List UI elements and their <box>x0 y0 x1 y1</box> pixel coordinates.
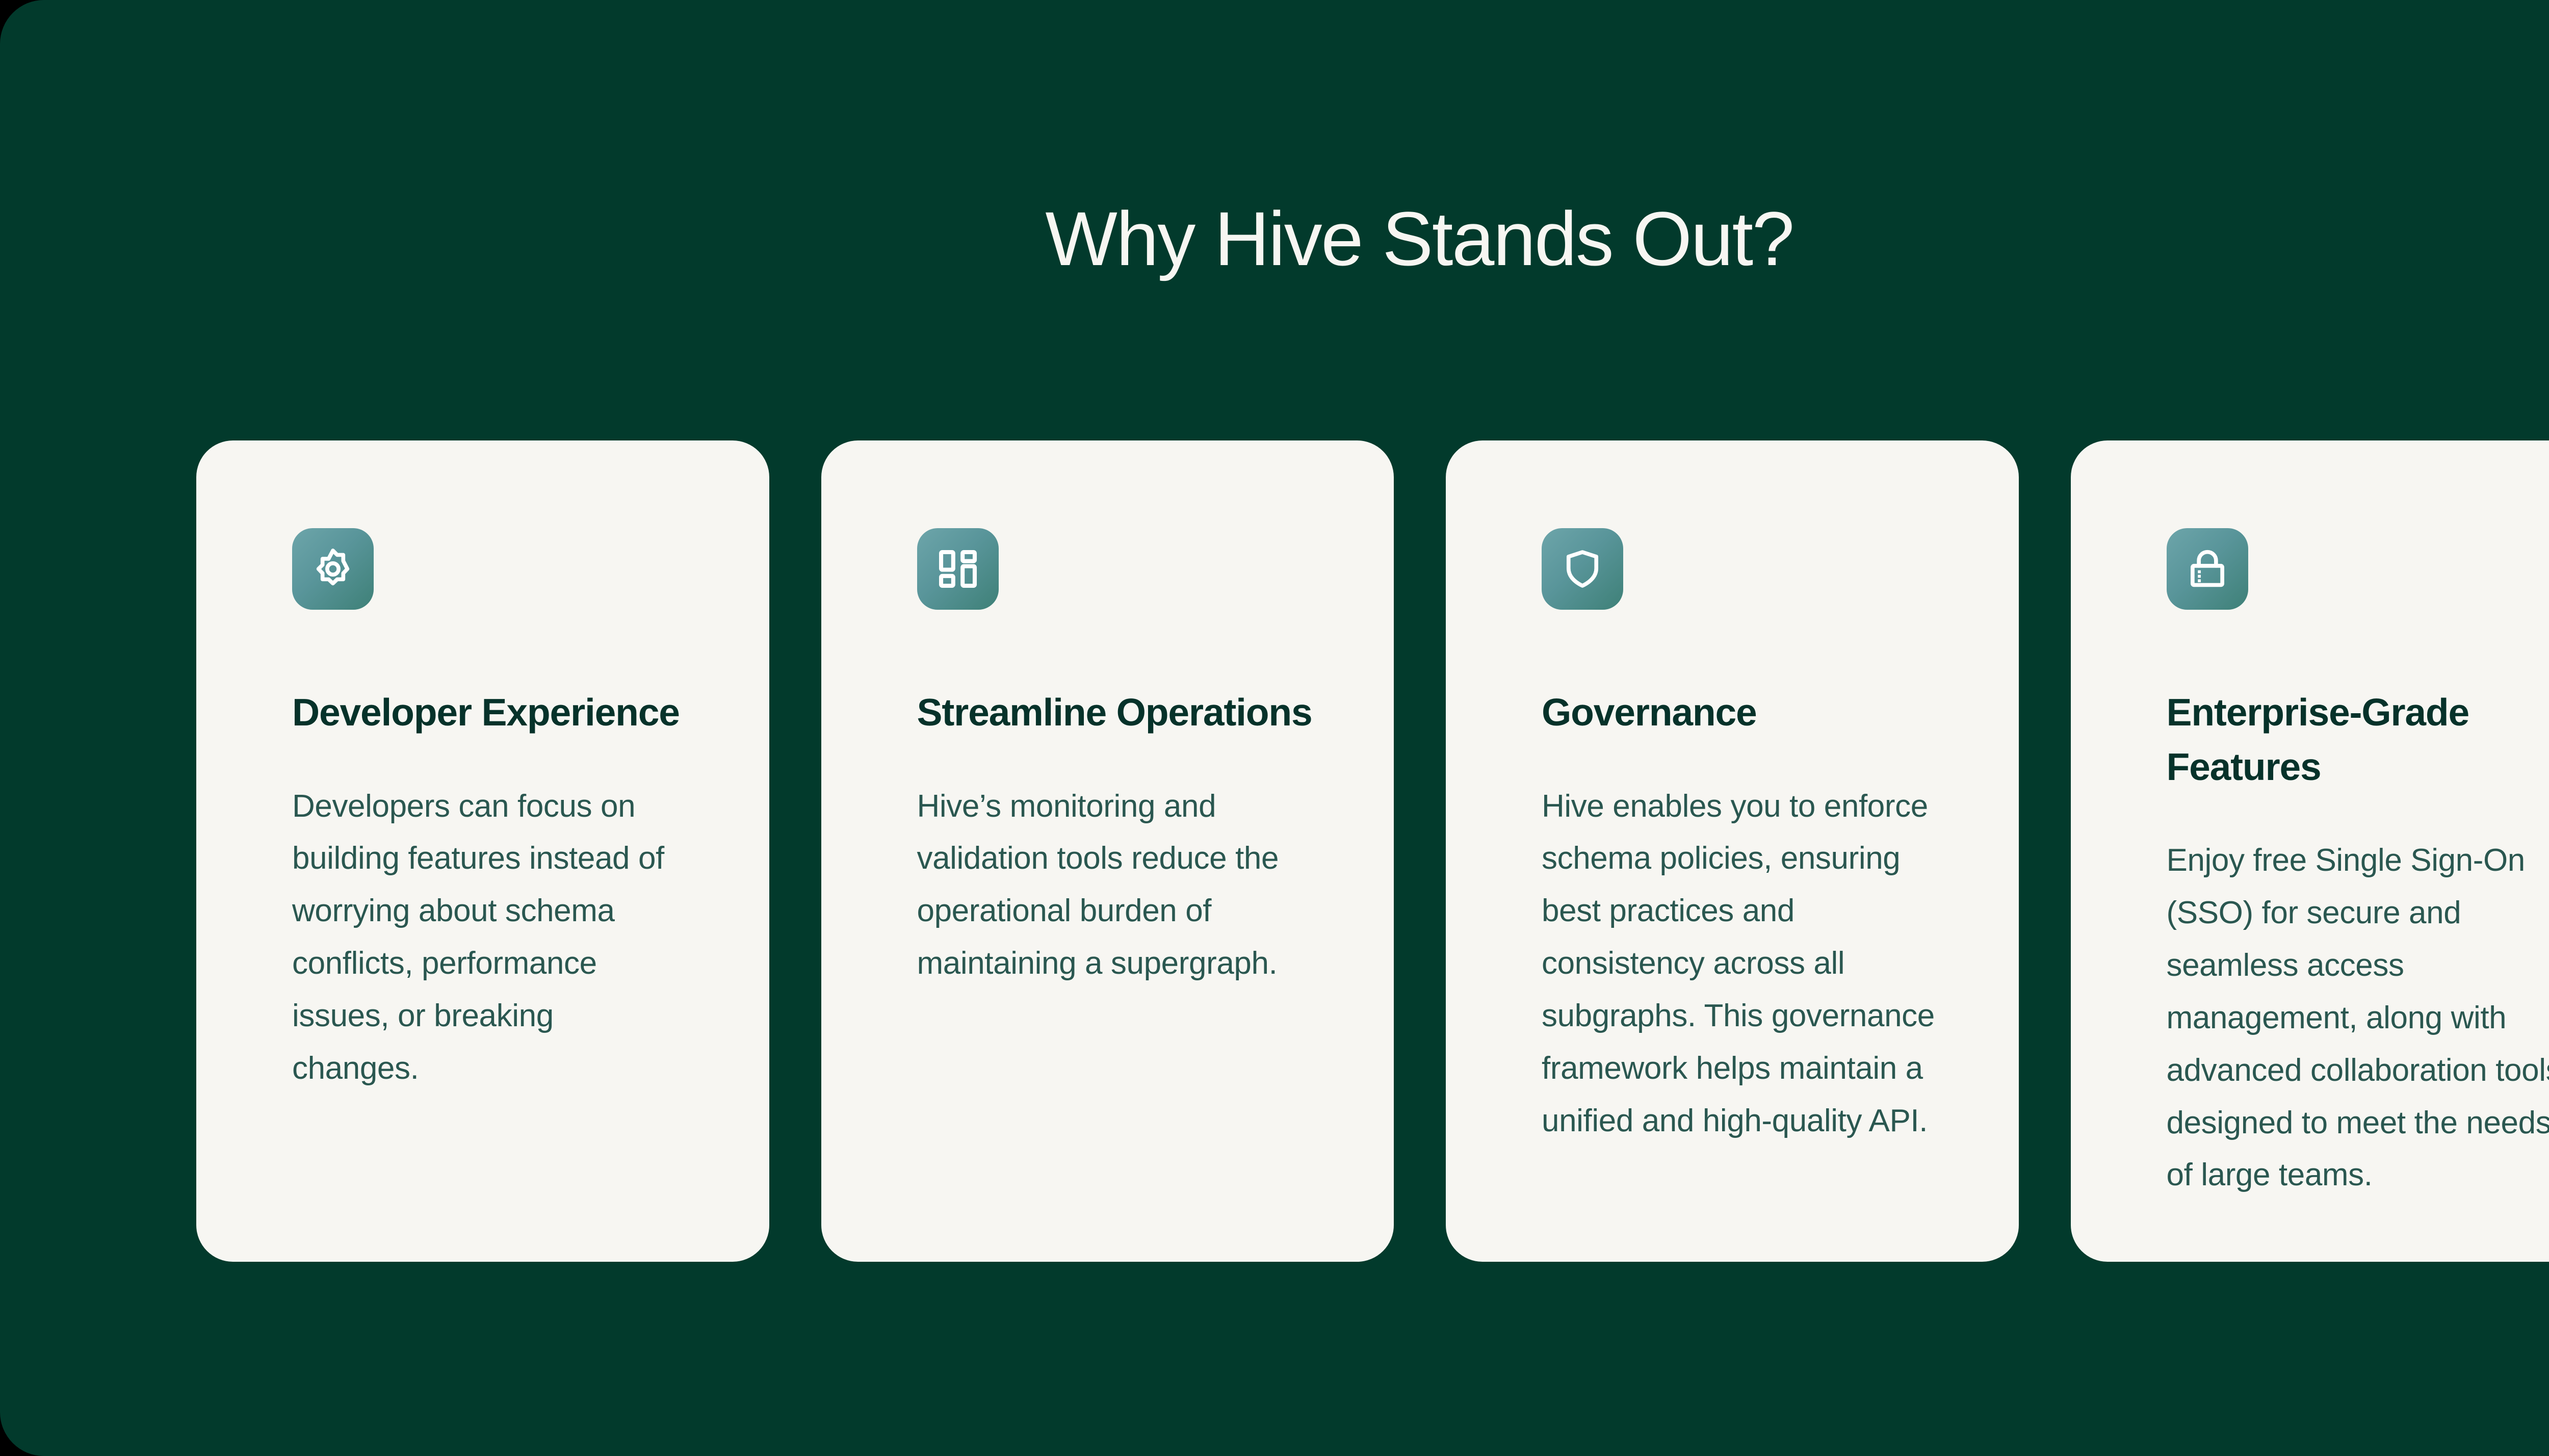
feature-card-enterprise-grade-features[interactable]: Enterprise-Grade Features Enjoy free Sin… <box>2071 440 2549 1262</box>
card-heading: Enterprise-Grade Features <box>2167 685 2549 794</box>
card-body: Hive’s monitoring and validation tools r… <box>917 781 1294 991</box>
feature-card-streamline-operations[interactable]: Streamline Operations Hive’s monitoring … <box>821 440 1394 1262</box>
feature-card-developer-experience[interactable]: Developer Experience Developers can focu… <box>196 440 769 1262</box>
card-heading: Developer Experience <box>292 685 680 740</box>
card-body: Developers can focus on building feature… <box>292 781 669 1095</box>
card-body: Hive enables you to enforce schema polic… <box>1542 781 1954 1148</box>
page-title: Why Hive Stands Out? <box>0 194 2549 284</box>
card-heading: Streamline Operations <box>917 685 1312 740</box>
feature-card-governance[interactable]: Governance Hive enables you to enforce s… <box>1446 440 2019 1262</box>
shield-icon <box>1542 528 1623 610</box>
lock-icon <box>2167 528 2248 610</box>
feature-card-grid: Developer Experience Developers can focu… <box>196 440 2549 1262</box>
gear-icon <box>292 528 374 610</box>
page-root: Why Hive Stands Out? Developer Experienc… <box>0 0 2549 1456</box>
card-heading: Governance <box>1542 685 1757 740</box>
card-body: Enjoy free Single Sign-On (SSO) for secu… <box>2167 835 2549 1202</box>
dashboard-grid-icon <box>917 528 999 610</box>
